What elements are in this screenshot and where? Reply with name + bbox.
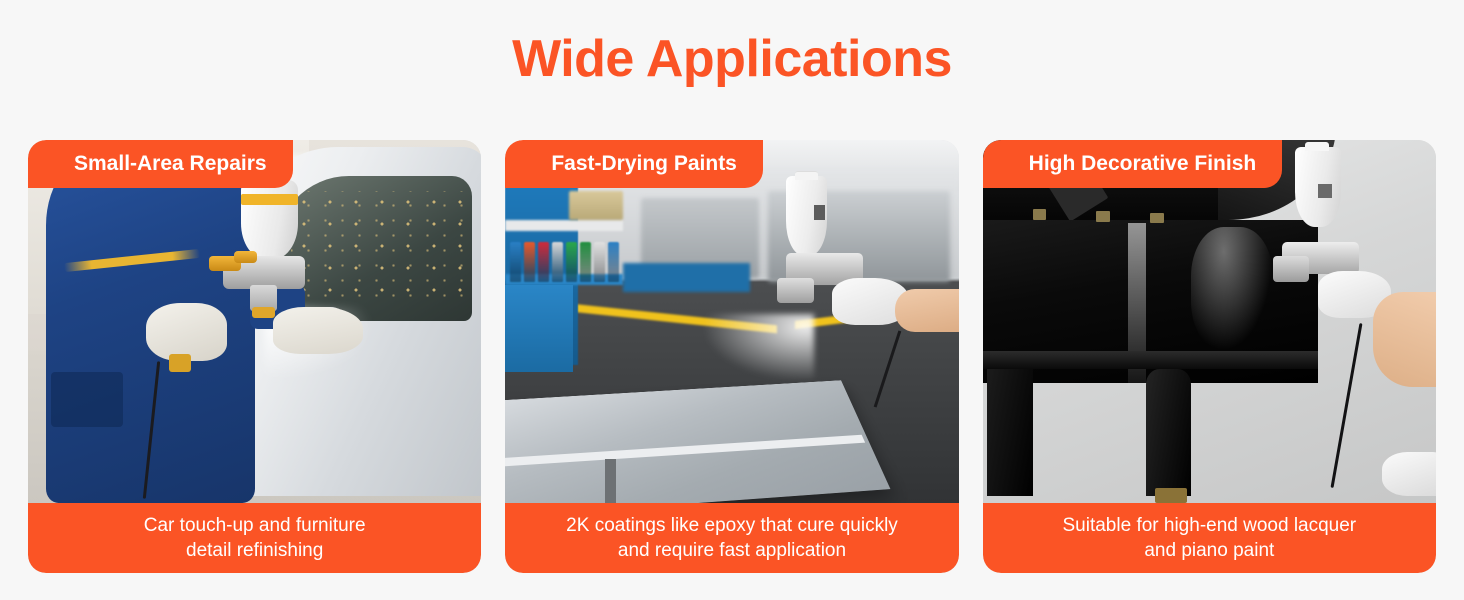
caption-line-1: Car touch-up and furniture [144, 513, 366, 538]
scene-industrial-workshop [505, 140, 958, 503]
card-badge-small-area-repairs: Small-Area Repairs [28, 140, 293, 188]
card-photo-auto-body-repair [28, 140, 481, 503]
card-badge-high-decorative-finish: High Decorative Finish [983, 140, 1283, 188]
caption-line-2: detail refinishing [144, 538, 366, 563]
card-caption-fast-drying-paints: 2K coatings like epoxy that cure quickly… [505, 503, 958, 573]
piano-leg-icon [987, 369, 1032, 496]
card-photo-piano-lacquer [983, 140, 1436, 503]
caption-line-1: 2K coatings like epoxy that cure quickly [566, 513, 898, 538]
spray-gun-cup-icon [241, 180, 298, 260]
caption-line-2: and piano paint [1063, 538, 1357, 563]
card-caption-small-area-repairs: Car touch-up and furniture detail refini… [28, 503, 481, 573]
spray-cans-row [510, 242, 619, 282]
application-card-fast-drying-paints[interactable]: Fast-Drying Paints 2K coatings like epox… [505, 140, 958, 573]
caption-line-2: and require fast application [566, 538, 898, 563]
card-photo-workshop-panel-spraying [505, 140, 958, 503]
application-card-small-area-repairs[interactable]: Small-Area Repairs Car touch-up and furn… [28, 140, 481, 573]
spray-mist-icon [705, 314, 814, 379]
air-hose-icon [1331, 323, 1363, 488]
card-badge-fast-drying-paints: Fast-Drying Paints [505, 140, 763, 188]
card-caption-high-decorative-finish: Suitable for high-end wood lacquer and p… [983, 503, 1436, 573]
application-card-high-decorative-finish[interactable]: High Decorative Finish Suitable for high… [983, 140, 1436, 573]
application-cards-grid: Small-Area Repairs Car touch-up and furn… [28, 140, 1436, 573]
scene-auto-body-shop [28, 140, 481, 503]
page-title: Wide Applications [0, 28, 1464, 90]
scene-black-grand-piano [983, 140, 1436, 503]
caption-line-1: Suitable for high-end wood lacquer [1063, 513, 1357, 538]
